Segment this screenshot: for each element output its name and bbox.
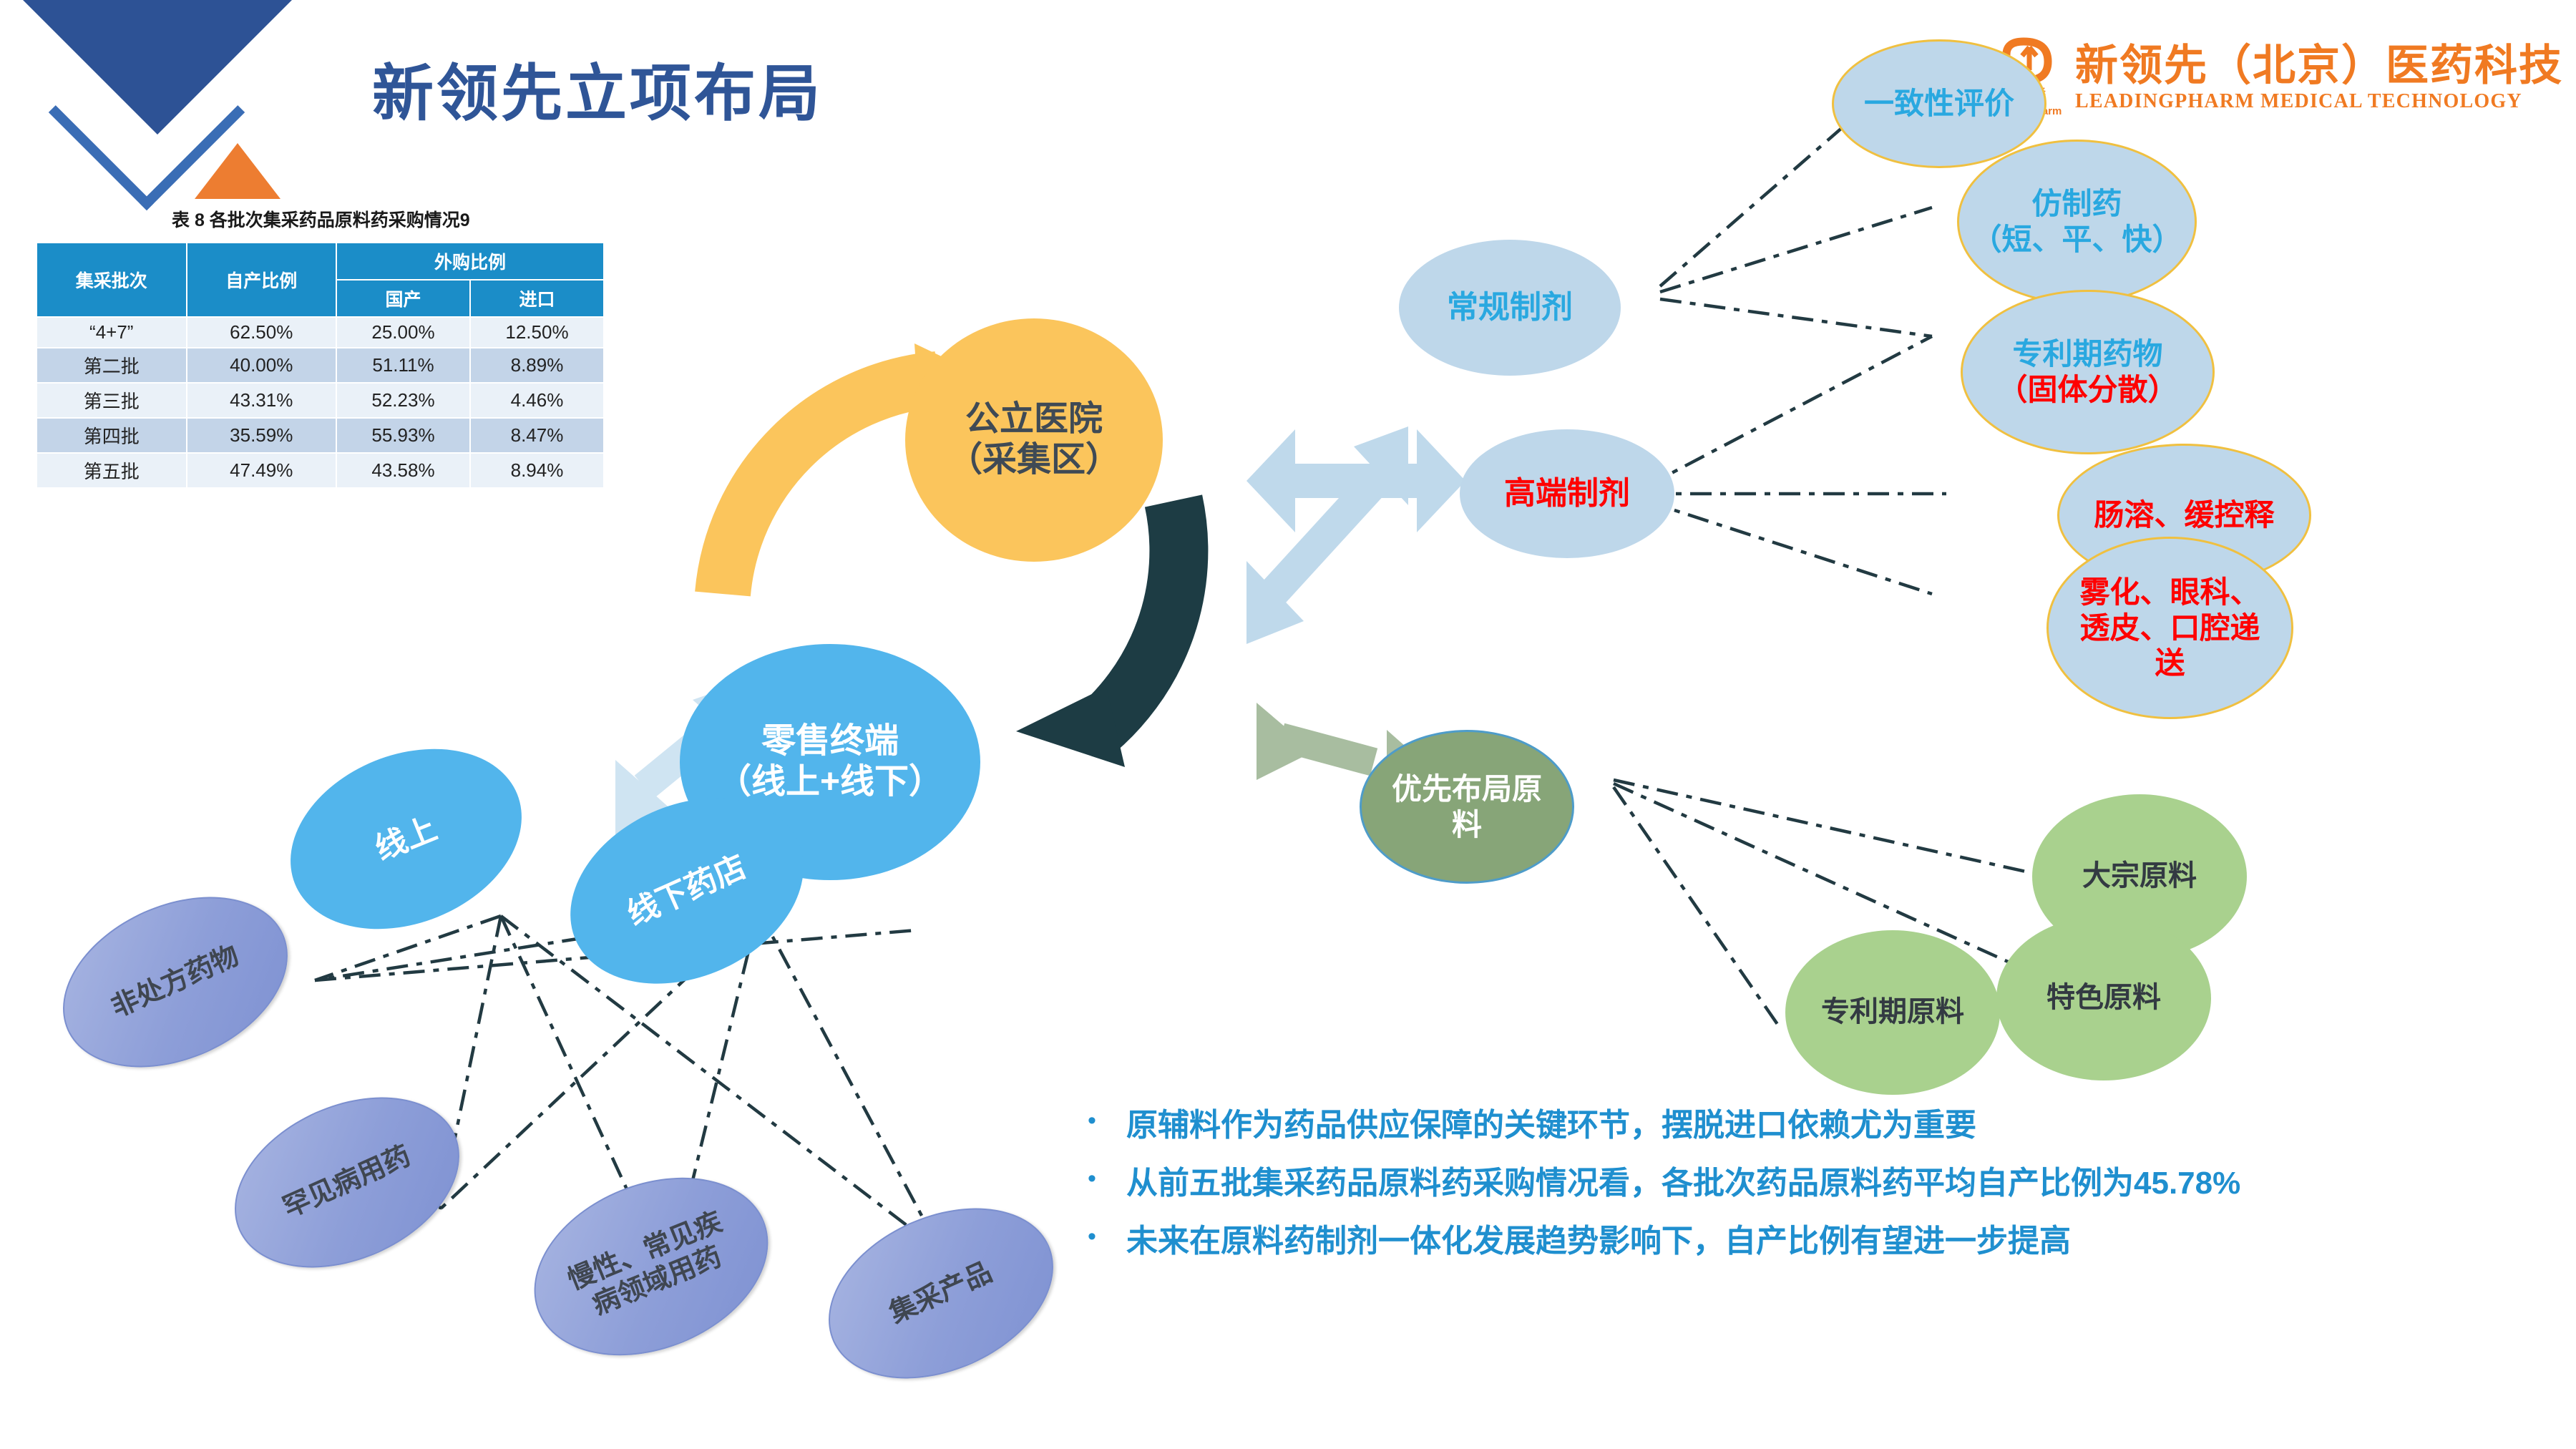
cell-import: 12.50% (470, 317, 604, 348)
col-self-ratio: 自产比例 (187, 243, 337, 317)
node-priority-api-line2: 料 (1452, 807, 1482, 843)
bullet-text: 未来在原料药制剂一体化发展趋势影响下，自产比例有望进一步提高 (1126, 1221, 2071, 1261)
node-otc-drugs[interactable]: 非处方药物 (36, 864, 315, 1101)
node-retail-terminal-line2: （线上+线下） (717, 762, 943, 803)
node-regular-formulation[interactable]: 常规制剂 (1399, 240, 1621, 376)
bullet-text: 原辅料作为药品供应保障的关键环节，摆脱进口依赖尤为重要 (1126, 1106, 1976, 1145)
api-procurement-table-block: 表 8 各批次集采药品原料药采购情况9 集采批次 自产比例 外购比例 国产 进口… (36, 206, 605, 489)
node-public-hospital-line2: （采集区） (948, 440, 1120, 481)
node-generic-drugs-line2: （短、平、快） (1971, 222, 2182, 258)
summary-bullets: • 原辅料作为药品供应保障的关键环节，摆脱进口依赖尤为重要 • 从前五批集采药品… (1088, 1106, 2547, 1279)
node-generic-drugs-line1: 仿制药 (2031, 186, 2122, 222)
bullet-marker: • (1088, 1221, 1126, 1252)
cell-domestic: 51.11% (336, 348, 470, 383)
page-title: 新领先立项布局 (372, 43, 823, 132)
bullet-item: • 未来在原料药制剂一体化发展趋势影响下，自产比例有望进一步提高 (1088, 1221, 2547, 1261)
cell-domestic: 25.00% (336, 317, 470, 348)
col-import: 进口 (470, 280, 604, 317)
node-generic-drugs[interactable]: 仿制药 （短、平、快） (1957, 140, 2197, 304)
cell-self: 40.00% (187, 348, 337, 383)
node-otc-drugs-label: 非处方药物 (107, 940, 244, 1024)
node-patent-api[interactable]: 专利期原料 (1785, 930, 2000, 1095)
node-high-end-formulation-label: 高端制剂 (1504, 475, 1630, 512)
table-caption: 表 8 各批次集采药品原料药采购情况9 (172, 206, 605, 232)
node-consistency-evaluation-label: 一致性评价 (1864, 86, 2014, 122)
brand-name-en: LEADINGPHARM MEDICAL TECHNOLOGY (2075, 92, 2563, 112)
arrow-hospital-regular (1259, 458, 1397, 608)
cell-domestic: 43.58% (336, 453, 470, 488)
slide-canvas: 新领先立项布局 新领先 Leadingpharm 新领先（北京）医药科技 LEA… (0, 0, 2576, 1449)
node-priority-api[interactable]: 优先布局原 料 (1360, 730, 1574, 884)
arrow-hospital-highend-2 (1246, 429, 1465, 532)
cell-import: 8.47% (470, 418, 604, 453)
node-rare-disease-drugs[interactable]: 罕见病用药 (208, 1064, 487, 1301)
table-row: 第三批 43.31% 52.23% 4.46% (36, 383, 604, 418)
cell-self: 47.49% (187, 453, 337, 488)
cell-domestic: 55.93% (336, 418, 470, 453)
api-procurement-table: 集采批次 自产比例 外购比例 国产 进口 “4+7” 62.50% 25.00%… (36, 242, 605, 489)
cell-domestic: 52.23% (336, 383, 470, 418)
table-row: 第四批 35.59% 55.93% 8.47% (36, 418, 604, 453)
node-chronic-common-disease-drugs[interactable]: 慢性、常见疾 病领域用药 (507, 1145, 794, 1389)
bullet-item: • 原辅料作为药品供应保障的关键环节，摆脱进口依赖尤为重要 (1088, 1106, 2547, 1145)
table-header-row-top: 集采批次 自产比例 外购比例 (36, 243, 604, 280)
col-batch: 集采批次 (36, 243, 187, 317)
cell-import: 4.46% (470, 383, 604, 418)
node-public-hospital[interactable]: 公立医院 （采集区） (905, 318, 1163, 562)
node-priority-api-line1: 优先布局原 (1392, 771, 1542, 807)
bullet-marker: • (1088, 1106, 1126, 1136)
bullet-text: 从前五批集采药品原料药采购情况看，各批次药品原料药平均自产比例为45.78% (1126, 1163, 2240, 1203)
node-rare-disease-drugs-label: 罕见病用药 (278, 1140, 416, 1224)
col-purchase-ratio: 外购比例 (336, 243, 604, 280)
node-regular-formulation-label: 常规制剂 (1447, 289, 1573, 326)
node-online-channel-label: 线上 (370, 810, 442, 868)
table-row: “4+7” 62.50% 25.00% 12.50% (36, 317, 604, 348)
cell-self: 43.31% (187, 383, 337, 418)
dashdot-links-formulations (1646, 93, 1946, 594)
cell-import: 8.94% (470, 453, 604, 488)
node-delivery-routes-label: 雾化、眼科、透皮、口腔递送 (2070, 575, 2270, 681)
node-enteric-sustained-release-label: 肠溶、缓控释 (2094, 497, 2274, 533)
triangle-orange-decoration (195, 143, 280, 199)
table-row: 第五批 47.49% 43.58% 8.94% (36, 453, 604, 488)
table-row: 第二批 40.00% 51.11% 8.89% (36, 348, 604, 383)
node-online-channel[interactable]: 线上 (263, 716, 549, 962)
cell-import: 8.89% (470, 348, 604, 383)
bullet-marker: • (1088, 1163, 1126, 1194)
node-patent-drugs[interactable]: 专利期药物 （固体分散） (1961, 290, 2215, 454)
cell-self: 35.59% (187, 418, 337, 453)
node-offline-pharmacy-label: 线下药店 (622, 848, 752, 933)
cell-batch: “4+7” (36, 317, 187, 348)
node-vbp-products-label: 集采产品 (884, 1257, 997, 1330)
col-domestic: 国产 (336, 280, 470, 317)
node-patent-drugs-line1: 专利期药物 (2012, 336, 2162, 372)
node-retail-terminal-line1: 零售终端 (761, 721, 899, 762)
node-patent-drugs-line2: （固体分散） (1997, 372, 2177, 408)
cell-self: 62.50% (187, 317, 337, 348)
node-delivery-routes[interactable]: 雾化、眼科、透皮、口腔递送 (2046, 537, 2293, 719)
node-bulk-api-label: 大宗原料 (2082, 859, 2197, 893)
brand-name-cn: 新领先（北京）医药科技 (2075, 44, 2563, 87)
node-patent-api-label: 专利期原料 (1821, 995, 1964, 1029)
cell-batch: 第三批 (36, 383, 187, 418)
node-public-hospital-line1: 公立医院 (965, 399, 1103, 440)
brand-logo: 新领先 Leadingpharm 新领先（北京）医药科技 LEADINGPHAR… (1986, 36, 2563, 120)
cell-batch: 第五批 (36, 453, 187, 488)
node-high-end-formulation[interactable]: 高端制剂 (1460, 429, 1674, 558)
cell-batch: 第四批 (36, 418, 187, 453)
node-vbp-products[interactable]: 集采产品 (802, 1175, 1080, 1412)
bullet-item: • 从前五批集采药品原料药采购情况看，各批次药品原料药平均自产比例为45.78% (1088, 1163, 2547, 1203)
cell-batch: 第二批 (36, 348, 187, 383)
node-consistency-evaluation[interactable]: 一致性评价 (1832, 39, 2046, 168)
node-specialty-api[interactable]: 特色原料 (1996, 916, 2211, 1080)
node-specialty-api-label: 特色原料 (2046, 981, 2161, 1015)
